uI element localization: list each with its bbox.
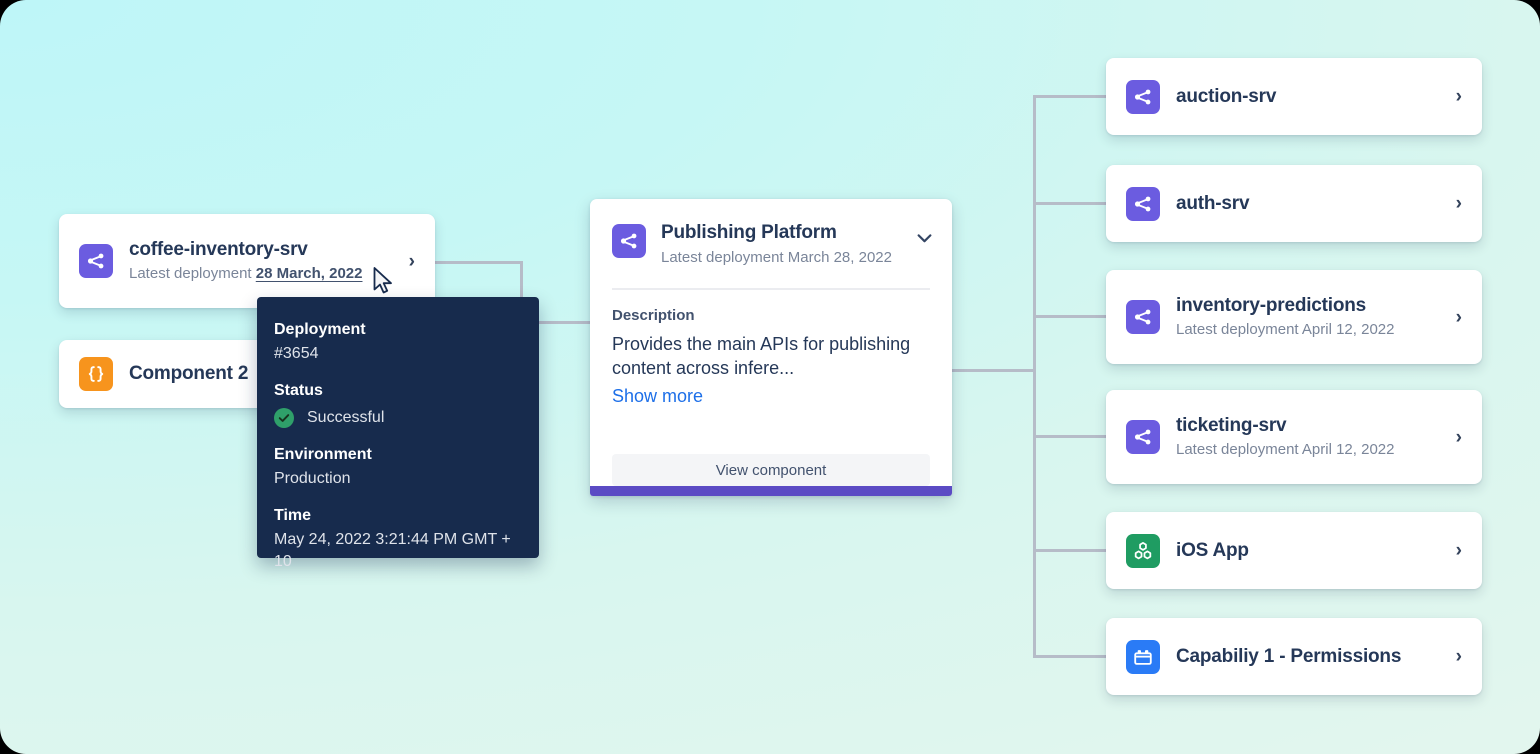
connector-branch-1 xyxy=(1033,95,1108,98)
card-title: inventory-predictions xyxy=(1176,294,1430,318)
tooltip-time-block: Time May 24, 2022 3:21:44 PM GMT + 10 xyxy=(274,505,517,573)
card-text-block: inventory-predictionsLatest deployment A… xyxy=(1176,294,1430,340)
tooltip-environment-value: Production xyxy=(274,468,517,490)
dependency-card-capabiliy-1-permissions[interactable]: Capabiliy 1 - Permissions› xyxy=(1106,618,1482,695)
tooltip-deployment-value: #3654 xyxy=(274,343,517,365)
chevron-right-icon[interactable]: › xyxy=(1446,308,1464,327)
card-subtitle: Latest deployment April 12, 2022 xyxy=(1176,319,1430,340)
chevron-right-icon[interactable]: › xyxy=(1446,428,1464,447)
tooltip-environment-block: Environment Production xyxy=(274,444,517,490)
dependency-card-inventory-predictions[interactable]: inventory-predictionsLatest deployment A… xyxy=(1106,270,1482,364)
card-title: auth-srv xyxy=(1176,192,1430,216)
deployment-tooltip: Deployment #3654 Status Successful Envir… xyxy=(257,297,539,558)
card-title: Capabiliy 1 - Permissions xyxy=(1176,645,1430,669)
tooltip-status-label: Status xyxy=(274,380,517,401)
dependency-card-ticketing-srv[interactable]: ticketing-srvLatest deployment April 12,… xyxy=(1106,390,1482,484)
dependency-card-ios-app[interactable]: iOS App› xyxy=(1106,512,1482,589)
card-accent-bar xyxy=(590,486,952,496)
chevron-right-icon[interactable]: › xyxy=(399,252,417,271)
description-label: Description xyxy=(612,306,930,326)
chevron-down-icon[interactable] xyxy=(917,221,932,249)
service-node-icon xyxy=(1126,187,1160,221)
tooltip-environment-label: Environment xyxy=(274,444,517,465)
chevron-right-icon[interactable]: › xyxy=(1446,647,1464,666)
tooltip-deployment-label: Deployment xyxy=(274,319,517,340)
chevron-right-icon[interactable]: › xyxy=(1446,194,1464,213)
connector-branch-3 xyxy=(1033,315,1108,318)
connector-coffee-h1 xyxy=(435,261,523,264)
connector-trunk xyxy=(1033,95,1036,657)
card-title: coffee-inventory-srv xyxy=(129,238,383,262)
card-text-block: auth-srv xyxy=(1176,192,1430,216)
card-subtitle: Latest deployment 28 March, 2022 xyxy=(129,263,383,284)
view-component-button[interactable]: View component xyxy=(612,454,930,486)
main-card-titles: Publishing Platform Latest deployment Ma… xyxy=(661,221,892,268)
connector-branch-2 xyxy=(1033,202,1108,205)
capability-box-icon xyxy=(1126,640,1160,674)
connector-main-out xyxy=(950,369,1036,372)
service-node-icon xyxy=(1126,420,1160,454)
card-title: ticketing-srv xyxy=(1176,414,1430,438)
chevron-right-icon[interactable]: › xyxy=(1446,87,1464,106)
page-title: Publishing Platform xyxy=(661,221,892,245)
card-text-block: iOS App xyxy=(1176,539,1430,563)
connector-branch-6 xyxy=(1033,655,1108,658)
code-braces-icon xyxy=(79,357,113,391)
component-card-publishing-platform[interactable]: Publishing Platform Latest deployment Ma… xyxy=(590,199,952,496)
tooltip-status-block: Status Successful xyxy=(274,380,517,429)
chevron-right-icon[interactable]: › xyxy=(1446,541,1464,560)
connector-branch-4 xyxy=(1033,435,1108,438)
service-node-icon xyxy=(1126,300,1160,334)
main-card-header: Publishing Platform Latest deployment Ma… xyxy=(590,199,952,268)
card-title: iOS App xyxy=(1176,539,1430,563)
main-card-body: Description Provides the main APIs for p… xyxy=(590,290,952,434)
show-more-link[interactable]: Show more xyxy=(612,384,930,408)
tooltip-time-label: Time xyxy=(274,505,517,526)
service-node-icon xyxy=(1126,80,1160,114)
card-text-block: Capabiliy 1 - Permissions xyxy=(1176,645,1430,669)
mouse-cursor xyxy=(373,267,395,297)
card-text-block: auction-srv xyxy=(1176,85,1430,109)
service-node-icon xyxy=(79,244,113,278)
deployment-date-link[interactable]: 28 March, 2022 xyxy=(256,265,363,282)
tooltip-time-value: May 24, 2022 3:21:44 PM GMT + 10 xyxy=(274,529,517,573)
card-subtitle: Latest deployment April 12, 2022 xyxy=(1176,439,1430,460)
dependency-card-auth-srv[interactable]: auth-srv› xyxy=(1106,165,1482,242)
connector-branch-5 xyxy=(1033,549,1108,552)
tooltip-deployment-block: Deployment #3654 xyxy=(274,319,517,365)
subtitle-prefix: Latest deployment xyxy=(129,265,256,282)
description-text: Provides the main APIs for publishing co… xyxy=(612,332,930,380)
check-circle-icon xyxy=(274,408,294,428)
application-hex-icon xyxy=(1126,534,1160,568)
tooltip-status-value: Successful xyxy=(307,407,384,429)
main-card-subtitle: Latest deployment March 28, 2022 xyxy=(661,247,892,268)
service-node-icon xyxy=(612,224,646,258)
card-text-block: ticketing-srvLatest deployment April 12,… xyxy=(1176,414,1430,460)
status-badge: Successful xyxy=(274,407,517,429)
dependency-graph-canvas: coffee-inventory-srv Latest deployment 2… xyxy=(0,0,1540,754)
dependency-card-auction-srv[interactable]: auction-srv› xyxy=(1106,58,1482,135)
card-text-block: coffee-inventory-srv Latest deployment 2… xyxy=(129,238,383,284)
card-title: auction-srv xyxy=(1176,85,1430,109)
